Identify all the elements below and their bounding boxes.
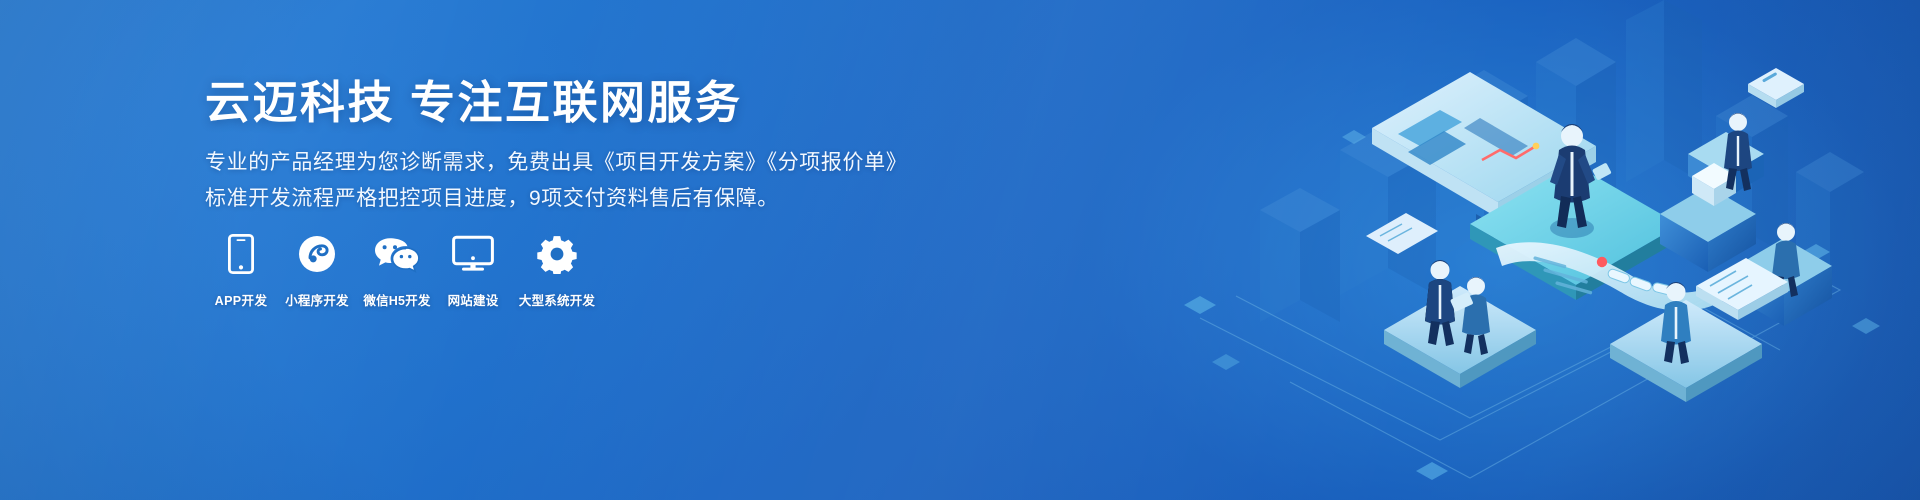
hero-banner: 云迈科技 专注互联网服务 专业的产品经理为您诊断需求，免费出具《项目开发方案》《… <box>0 0 1920 500</box>
page-title: 云迈科技 专注互联网服务 <box>205 76 743 130</box>
mobile-phone-icon <box>228 232 254 276</box>
service-label: 大型系统开发 <box>519 290 595 309</box>
mini-program-icon <box>298 232 336 276</box>
illustration-isometric-tech <box>1140 0 1920 500</box>
service-label: 小程序开发 <box>285 290 349 309</box>
monitor-icon <box>452 232 494 276</box>
service-label: 微信H5开发 <box>363 290 430 309</box>
service-list: APP开发 小程序开发 <box>205 232 605 309</box>
gear-icon <box>537 232 577 276</box>
service-item-app[interactable]: APP开发 <box>205 232 277 309</box>
wechat-icon <box>374 232 420 276</box>
service-item-miniprogram[interactable]: 小程序开发 <box>277 232 357 309</box>
service-label: APP开发 <box>215 290 268 309</box>
service-item-large-system[interactable]: 大型系统开发 <box>509 232 605 309</box>
subtitle-line-1: 专业的产品经理为您诊断需求，免费出具《项目开发方案》《分项报价单》 <box>205 145 905 181</box>
service-item-wechat-h5[interactable]: 微信H5开发 <box>357 232 437 309</box>
service-label: 网站建设 <box>448 290 499 309</box>
service-item-website[interactable]: 网站建设 <box>437 232 509 309</box>
subtitle-line-2: 标准开发流程严格把控项目进度，9项交付资料售后有保障。 <box>205 181 905 217</box>
hero-subtitle: 专业的产品经理为您诊断需求，免费出具《项目开发方案》《分项报价单》 标准开发流程… <box>205 145 905 217</box>
hero-content: 云迈科技 专注互联网服务 专业的产品经理为您诊断需求，免费出具《项目开发方案》《… <box>205 0 965 500</box>
